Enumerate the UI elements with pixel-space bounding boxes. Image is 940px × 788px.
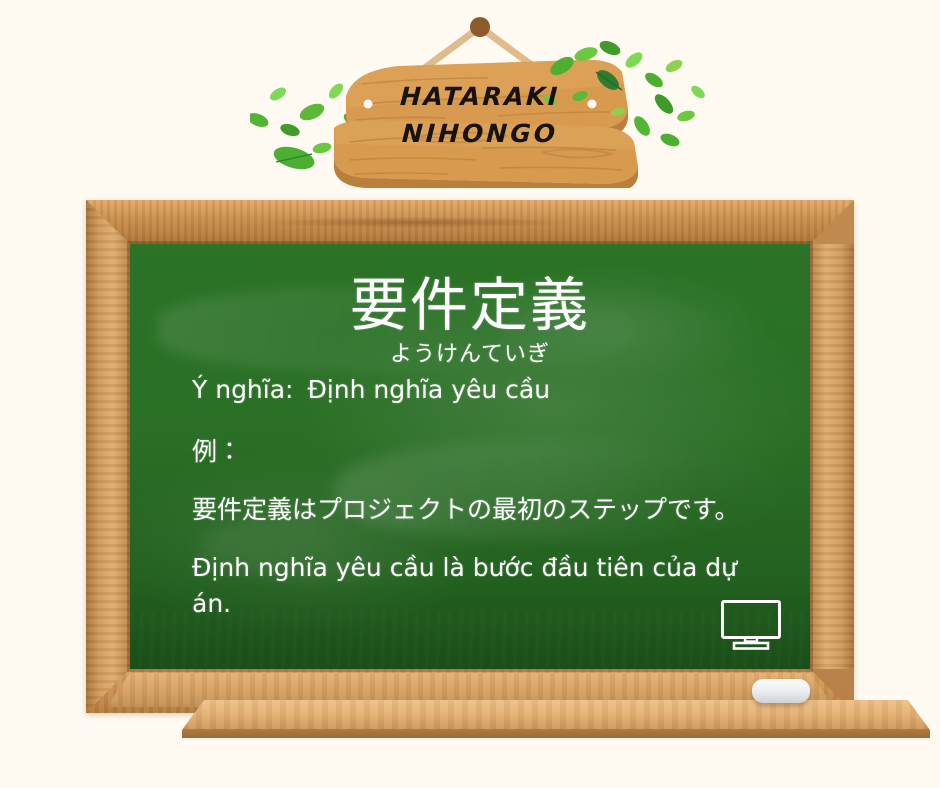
hataraki-nihongo-sign[interactable]: HATARAKI NIHONGO — [250, 8, 710, 188]
frame-rail-right — [810, 200, 854, 713]
example-label: 例： — [192, 434, 758, 470]
sign-artwork — [250, 8, 710, 188]
frame-rail-top — [86, 200, 854, 244]
monitor-icon — [720, 599, 782, 651]
vocabulary-body: Ý nghĩa:Định nghĩa yêu cầu 例： 要件定義はプロジェク… — [192, 372, 758, 622]
sign-nail-left — [364, 100, 373, 109]
chalkboard: 要件定義 ようけんていぎ Ý nghĩa:Định nghĩa yêu cầu … — [86, 200, 854, 745]
chalk-eraser[interactable] — [752, 679, 810, 703]
sign-nail-right — [588, 100, 597, 109]
vocabulary-title: 要件定義 — [130, 274, 810, 336]
meaning-value: Định nghĩa yêu cầu — [307, 375, 550, 404]
meaning-row: Ý nghĩa:Định nghĩa yêu cầu — [192, 372, 758, 408]
meaning-label: Ý nghĩa: — [192, 375, 293, 404]
sign-hook-nail — [470, 17, 490, 37]
sign-planks — [334, 60, 638, 188]
example-vietnamese: Định nghĩa yêu cầu là bước đầu tiên của … — [192, 550, 758, 622]
frame-rail-left — [86, 200, 130, 713]
vocabulary-furigana: ようけんていぎ — [130, 341, 810, 369]
chalkboard-content: 要件定義 ようけんていぎ Ý nghĩa:Định nghĩa yêu cầu … — [130, 244, 810, 669]
chalkboard-frame: 要件定義 ようけんていぎ Ý nghĩa:Định nghĩa yêu cầu … — [86, 200, 854, 713]
page-root: HATARAKI NIHONGO 要件定義 ようけんていぎ — [0, 0, 940, 788]
example-japanese: 要件定義はプロジェクトの最初のステップです。 — [192, 492, 758, 528]
chalk-ledge-front — [182, 700, 930, 738]
